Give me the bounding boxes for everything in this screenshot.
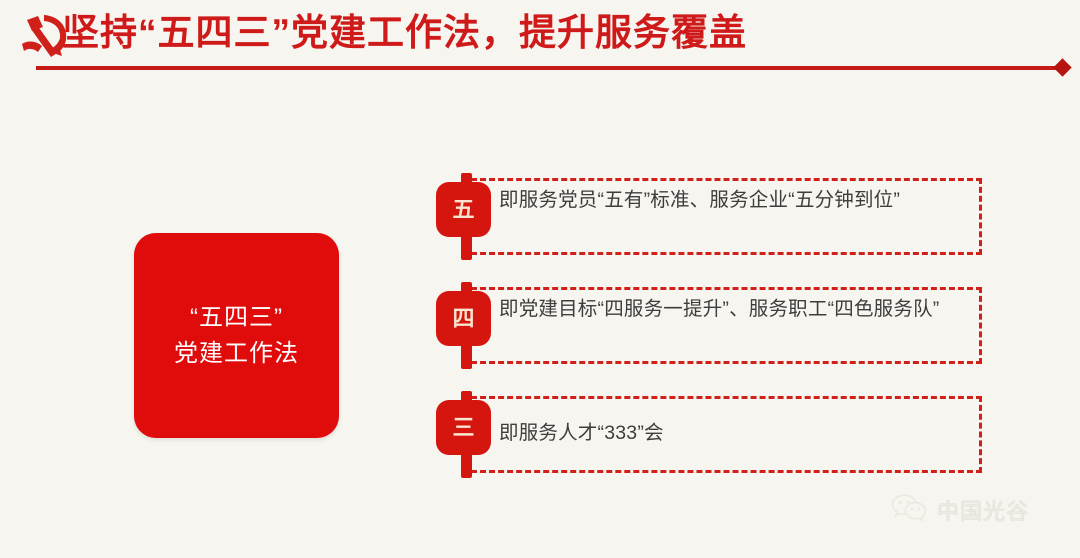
page-title: 坚持“五四三”党建工作法，提升服务覆盖 (62, 9, 747, 57)
row-description: 即服务人才“333”会 (499, 418, 969, 448)
row-badge: 三 (436, 400, 491, 455)
method-summary-card: “五四三” 党建工作法 (134, 233, 339, 438)
row-badge-label: 五 (452, 199, 474, 221)
row-description: 即服务党员“五有”标准、服务企业“五分钟到位” (499, 185, 969, 215)
list-item: 三 即服务人才“333”会 (436, 396, 982, 473)
list-item: 四 即党建目标“四服务一提升”、服务职工“四色服务队” (436, 287, 982, 364)
slide-header: 坚持“五四三”党建工作法，提升服务覆盖 (0, 0, 1080, 92)
method-card-line-1: “五四三” (190, 300, 283, 336)
method-card-line-2: 党建工作法 (174, 336, 299, 372)
list-item: 五 即服务党员“五有”标准、服务企业“五分钟到位” (436, 178, 982, 255)
row-badge-label: 四 (452, 308, 474, 330)
row-badge: 四 (436, 291, 491, 346)
watermark-label: 中国光谷 (937, 494, 1029, 526)
title-underline-end-marker (1053, 58, 1071, 76)
row-badge: 五 (436, 182, 491, 237)
row-badge-label: 三 (452, 417, 474, 439)
watermark: 中国光谷 (890, 492, 1029, 527)
title-underline (36, 66, 1062, 70)
wechat-logo-icon (890, 492, 928, 527)
row-description: 即党建目标“四服务一提升”、服务职工“四色服务队” (499, 294, 969, 324)
slide-canvas: 坚持“五四三”党建工作法，提升服务覆盖 “五四三” 党建工作法 五 即服务党员“… (0, 0, 1080, 558)
